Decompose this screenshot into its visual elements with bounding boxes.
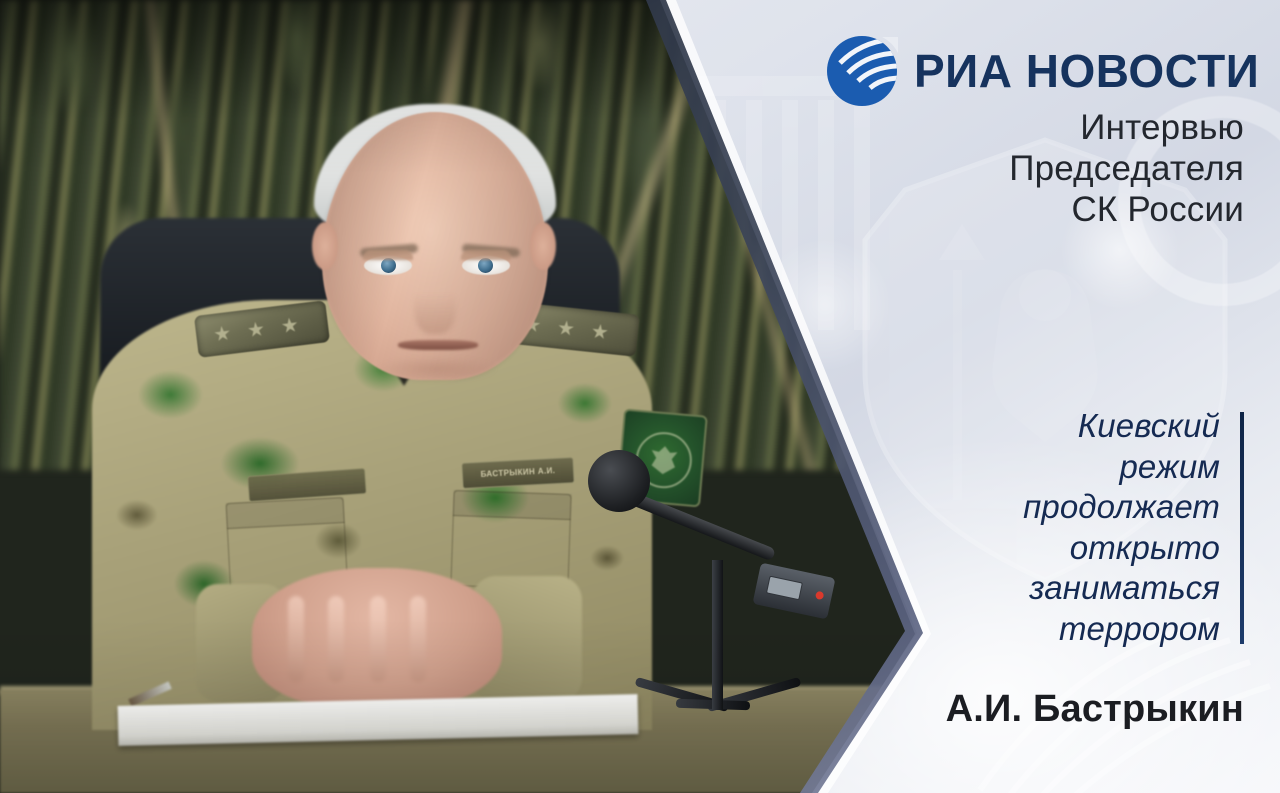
subtitle-block: Интервью Председателя СК России xyxy=(1009,108,1244,231)
nose xyxy=(414,272,456,334)
quote-line-3: продолжает xyxy=(1023,487,1220,528)
iris-left xyxy=(381,258,396,273)
quote-line-4: открыто xyxy=(1023,528,1220,569)
eyelid-right xyxy=(461,250,511,260)
brand-wordmark: РИА НОВОСТИ xyxy=(914,44,1259,98)
quote-line-6: террором xyxy=(1023,609,1220,650)
subtitle-line-1: Интервью xyxy=(1009,108,1244,149)
quote-line-1: Киевский xyxy=(1023,406,1220,447)
ear-left xyxy=(312,222,338,270)
iris-right xyxy=(478,258,493,273)
ear-right xyxy=(530,222,556,270)
chin-shading xyxy=(376,356,498,382)
mic-control-box xyxy=(752,563,835,620)
quote-line-5: заниматься xyxy=(1023,568,1220,609)
ria-globe-icon xyxy=(824,33,900,109)
quote-block: Киевский режим продолжает открыто занима… xyxy=(1023,406,1244,649)
brand-header: РИА НОВОСТИ xyxy=(824,33,1259,109)
subtitle-line-2: Председателя xyxy=(1009,149,1244,190)
recording-led-icon xyxy=(815,591,824,600)
news-card: БАСТРЫКИН А.И. xyxy=(0,0,1280,793)
mic-stand-pole xyxy=(712,560,723,710)
name-tag-label: БАСТРЫКИН А.И. xyxy=(462,458,573,487)
eyelid-left xyxy=(363,250,413,260)
subtitle-line-3: СК России xyxy=(1009,190,1244,231)
quote-accent-bar xyxy=(1240,412,1244,644)
clasped-hands xyxy=(252,568,502,708)
quote-text: Киевский режим продолжает открыто занима… xyxy=(1023,406,1220,649)
quote-line-2: режим xyxy=(1023,447,1220,488)
speaker-name: А.И. Бастрыкин xyxy=(946,688,1244,731)
mouth xyxy=(398,340,478,350)
microphone-icon xyxy=(588,450,650,512)
